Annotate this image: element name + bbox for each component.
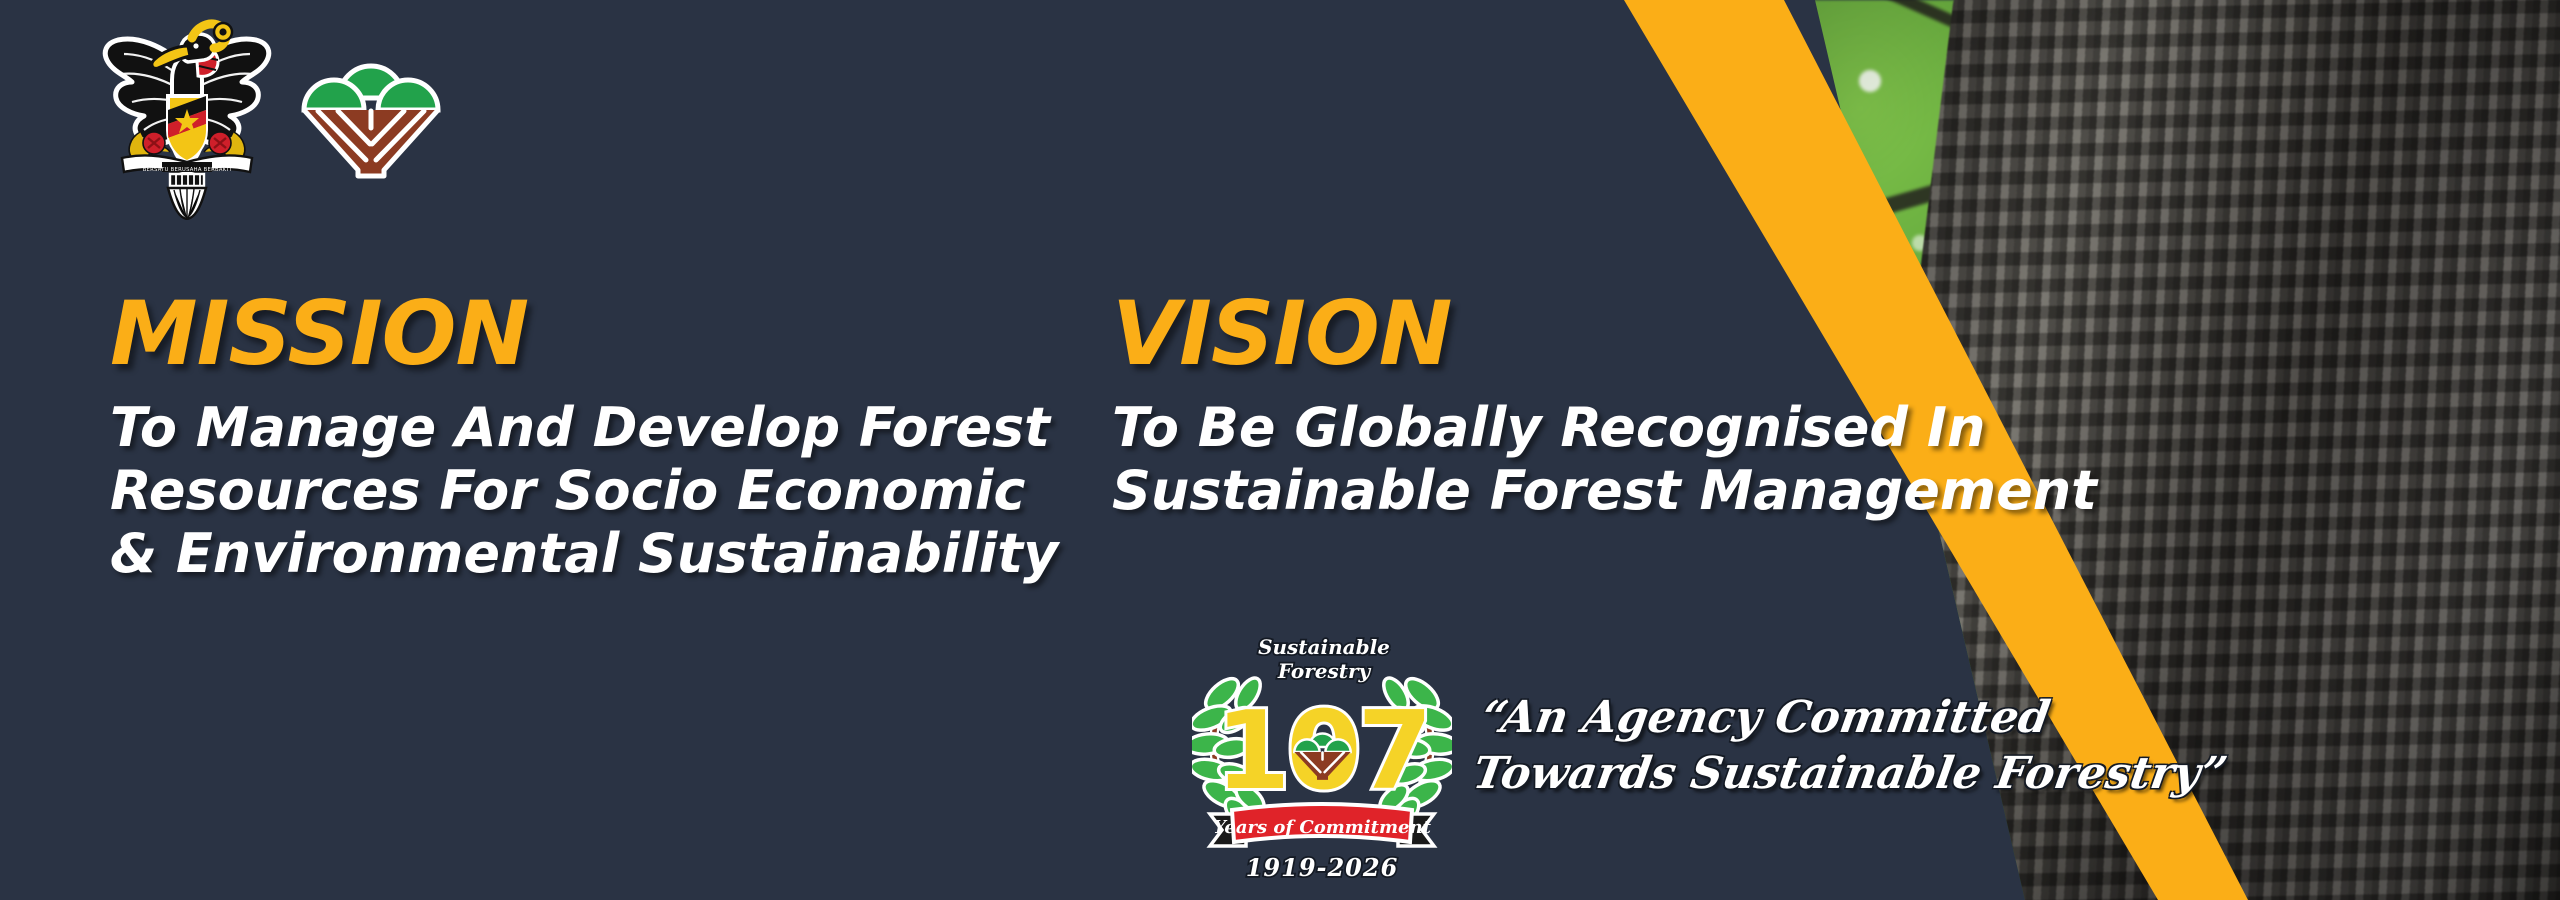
vision-block: VISION To Be Globally Recognised In Sust… [1112,290,2072,522]
anniversary-badge-icon: Sustainable Forestry 107 Years of Commit… [1192,622,1452,884]
badge-ribbon-text: Years of Commitment [1213,817,1431,838]
sarawak-coat-of-arms-icon: BERSATU BERUSAHA BERBAKTI [92,10,282,220]
tagline-line-2: Towards Sustainable Forestry” [1469,746,2098,802]
forest-department-tree-logo-icon [296,10,446,180]
badge-top-line1: Sustainable [1258,635,1390,659]
mission-line-2: Resources For Socio Economic [110,459,1030,522]
mission-heading: MISSION [110,290,1030,378]
badge-years: 1919-2026 [1246,853,1399,882]
mission-line-1: To Manage And Develop Forest [110,396,1030,459]
mission-vision-banner: BERSATU BERUSAHA BERBAKTI [0,0,2560,900]
vision-heading: VISION [1112,290,2072,378]
tagline: “An Agency Committed Towards Sustainable… [1469,690,2107,803]
logo-row: BERSATU BERUSAHA BERBAKTI [92,10,446,220]
anniversary-badge: Sustainable Forestry 107 Years of Commit… [1192,622,1452,884]
badge-top-line2: Forestry [1277,659,1372,683]
vision-line-2: Sustainable Forest Management [1112,459,2072,522]
mission-line-3: & Environmental Sustainability [110,522,1030,585]
tagline-line-1: “An Agency Committed [1478,690,2107,746]
svg-text:BERSATU BERUSAHA BERBAKTI: BERSATU BERUSAHA BERBAKTI [143,167,232,173]
vision-line-1: To Be Globally Recognised In [1112,396,2072,459]
mission-block: MISSION To Manage And Develop Forest Res… [110,290,1030,586]
